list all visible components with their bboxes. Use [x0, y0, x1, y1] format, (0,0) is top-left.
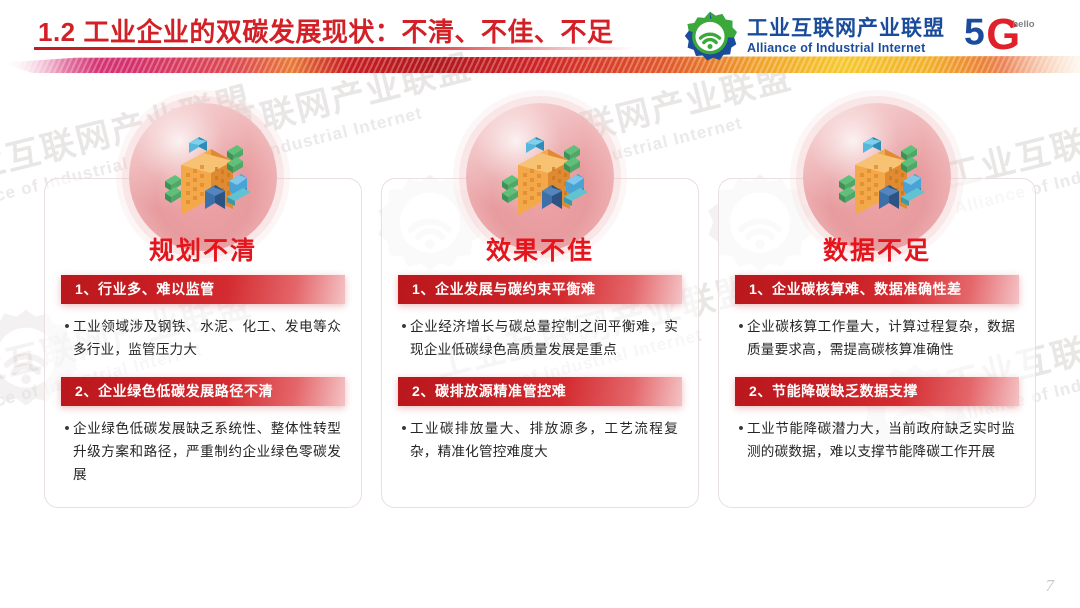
bullet-text: 工业节能降碳潜力大，当前政府缺乏实时监测的碳数据，难以支撑节能降碳工作开展 [747, 417, 1015, 463]
list-item: • 企业绿色低碳发展缺乏系统性、整体性转型升级方案和路径，严重制约企业绿色零碳发… [61, 417, 345, 486]
page-number: 7 [1046, 576, 1055, 596]
card-data[interactable]: 数据不足 1、企业碳核算难、数据准确性差 • 企业碳核算工作量大，计算过程复杂，… [718, 178, 1036, 508]
bullet-text: 工业领域涉及钢铁、水泥、化工、发电等众多行业，监管压力大 [73, 315, 341, 361]
alliance-logo: 工业互联网产业联盟 Alliance of Industrial Interne… [681, 9, 945, 65]
bullet-dot-icon: • [735, 417, 747, 463]
card-effectiveness[interactable]: 效果不佳 1、企业发展与碳约束平衡难 • 企业经济增长与碳总量控制之间平衡难，实… [381, 178, 699, 508]
bullet-text: 企业碳核算工作量大，计算过程复杂，数据质量要求高，需提高碳核算准确性 [747, 315, 1015, 361]
list-item: • 企业经济增长与碳总量控制之间平衡难，实现企业低碳绿色高质量发展是重点 [398, 315, 682, 361]
svg-text:G: G [986, 11, 1020, 54]
cards-container: 规划不清 1、行业多、难以监管 • 工业领域涉及钢铁、水泥、化工、发电等众多行业… [0, 100, 1080, 508]
svg-text:hello: hello [1012, 19, 1034, 30]
card-title: 效果不佳 [382, 231, 698, 267]
bullet-dot-icon: • [61, 417, 73, 486]
isometric-factory-icon [466, 103, 614, 251]
svg-text:5: 5 [964, 10, 985, 52]
gear-wifi-icon [681, 9, 739, 65]
bullet-dot-icon: • [735, 315, 747, 361]
section-banner: 1、企业碳核算难、数据准确性差 [735, 275, 1019, 304]
card-planning[interactable]: 规划不清 1、行业多、难以监管 • 工业领域涉及钢铁、水泥、化工、发电等众多行业… [44, 178, 362, 508]
alliance-name-cn: 工业互联网产业联盟 [747, 18, 945, 40]
card-body: 1、行业多、难以监管 • 工业领域涉及钢铁、水泥、化工、发电等众多行业，监管压力… [45, 275, 361, 502]
list-item: • 工业碳排放量大、排放源多，工艺流程复杂，精准化管控难度大 [398, 417, 682, 463]
bullet-dot-icon: • [61, 315, 73, 361]
bullet-text: 企业经济增长与碳总量控制之间平衡难，实现企业低碳绿色高质量发展是重点 [410, 315, 678, 361]
slide-root: 工业互联网产业联盟 Alliance of Industrial Interne… [0, 0, 1080, 608]
isometric-factory-icon [129, 103, 277, 251]
section-banner: 1、企业发展与碳约束平衡难 [398, 275, 682, 304]
bullet-text: 企业绿色低碳发展缺乏系统性、整体性转型升级方案和路径，严重制约企业绿色零碳发展 [73, 417, 341, 486]
section-banner: 1、行业多、难以监管 [61, 275, 345, 304]
bullet-text: 工业碳排放量大、排放源多，工艺流程复杂，精准化管控难度大 [410, 417, 678, 463]
card-body: 1、企业碳核算难、数据准确性差 • 企业碳核算工作量大，计算过程复杂，数据质量要… [719, 275, 1035, 479]
section-banner: 2、节能降碳缺乏数据支撑 [735, 377, 1019, 406]
slide-header: 1.2 工业企业的双碳发展现状：不清、不佳、不足 工业互联网产业联盟 Allia… [0, 0, 1080, 76]
5g-logo-icon: 5 G hello [962, 8, 1058, 54]
bullet-dot-icon: • [398, 315, 410, 361]
card-title: 规划不清 [45, 231, 361, 267]
list-item: • 工业领域涉及钢铁、水泥、化工、发电等众多行业，监管压力大 [61, 315, 345, 361]
alliance-logo-text: 工业互联网产业联盟 Alliance of Industrial Interne… [747, 18, 945, 55]
list-item: • 工业节能降碳潜力大，当前政府缺乏实时监测的碳数据，难以支撑节能降碳工作开展 [735, 417, 1019, 463]
bullet-dot-icon: • [398, 417, 410, 463]
card-title: 数据不足 [719, 231, 1035, 267]
title-underline [34, 47, 634, 50]
alliance-name-en: Alliance of Industrial Internet [747, 41, 945, 56]
section-banner: 2、企业绿色低碳发展路径不清 [61, 377, 345, 406]
section-banner: 2、碳排放源精准管控难 [398, 377, 682, 406]
card-body: 1、企业发展与碳约束平衡难 • 企业经济增长与碳总量控制之间平衡难，实现企业低碳… [382, 275, 698, 479]
list-item: • 企业碳核算工作量大，计算过程复杂，数据质量要求高，需提高碳核算准确性 [735, 315, 1019, 361]
page-title: 1.2 工业企业的双碳发展现状：不清、不佳、不足 [38, 12, 613, 49]
isometric-factory-icon [803, 103, 951, 251]
